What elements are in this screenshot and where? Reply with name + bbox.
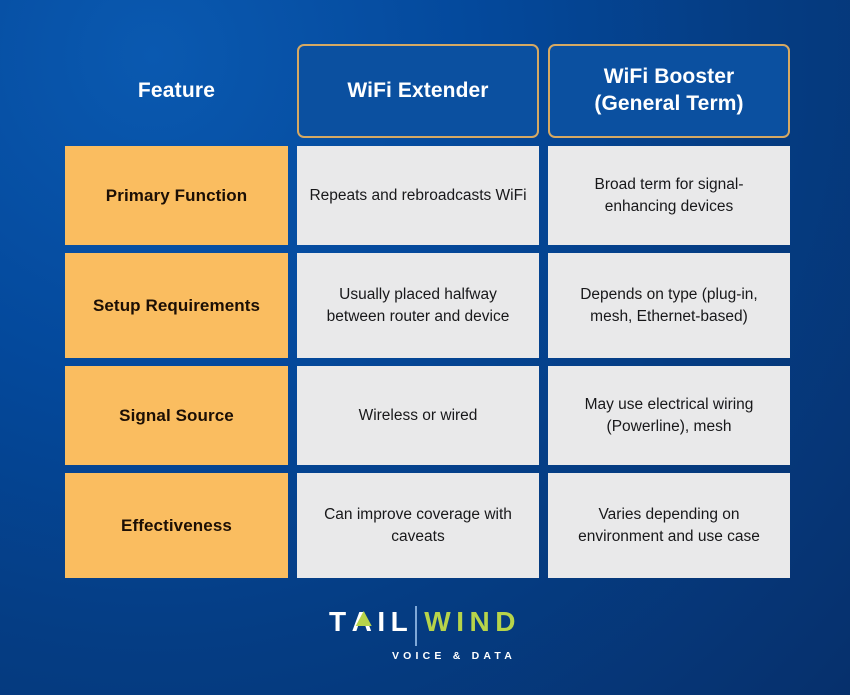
- header-wifi-extender: WiFi Extender: [297, 44, 539, 138]
- logo-wordmark: T A IL WIND: [329, 608, 521, 646]
- value-booster: Broad term for signal-enhancing devices: [548, 146, 790, 245]
- logo-text-wind: WIND: [424, 608, 521, 636]
- comparison-table: Feature WiFi Extender WiFi Booster (Gene…: [65, 44, 783, 578]
- tailwind-logo: T A IL WIND VOICE & DATA: [0, 608, 850, 662]
- feature-label: Setup Requirements: [65, 253, 288, 358]
- table-row: Signal Source Wireless or wired May use …: [65, 366, 783, 465]
- chevron-accent-icon: [355, 611, 371, 626]
- logo-text-il: IL: [377, 608, 413, 636]
- value-extender: Usually placed halfway between router an…: [297, 253, 539, 358]
- value-extender: Can improve coverage with caveats: [297, 473, 539, 578]
- header-wifi-booster-line2: (General Term): [594, 92, 743, 115]
- feature-label: Primary Function: [65, 146, 288, 245]
- logo-divider-bar: [415, 606, 417, 646]
- header-wifi-booster-line1: WiFi Booster: [604, 65, 735, 88]
- header-feature: Feature: [65, 44, 288, 138]
- value-booster: May use electrical wiring (Powerline), m…: [548, 366, 790, 465]
- table-row: Primary Function Repeats and rebroadcast…: [65, 146, 783, 245]
- logo-tagline: VOICE & DATA: [392, 650, 516, 662]
- value-extender: Wireless or wired: [297, 366, 539, 465]
- value-extender: Repeats and rebroadcasts WiFi: [297, 146, 539, 245]
- table-row: Setup Requirements Usually placed halfwa…: [65, 253, 783, 358]
- feature-label: Effectiveness: [65, 473, 288, 578]
- value-booster: Depends on type (plug-in, mesh, Ethernet…: [548, 253, 790, 358]
- feature-label: Signal Source: [65, 366, 288, 465]
- logo-text-t: T: [329, 608, 352, 636]
- infographic-root: Feature WiFi Extender WiFi Booster (Gene…: [0, 0, 850, 695]
- table-row: Effectiveness Can improve coverage with …: [65, 473, 783, 578]
- header-wifi-booster-text: WiFi Booster (General Term): [594, 64, 743, 118]
- header-wifi-booster: WiFi Booster (General Term): [548, 44, 790, 138]
- logo-letter-a-wrap: A: [352, 608, 378, 636]
- value-booster: Varies depending on environment and use …: [548, 473, 790, 578]
- table-header-row: Feature WiFi Extender WiFi Booster (Gene…: [65, 44, 783, 138]
